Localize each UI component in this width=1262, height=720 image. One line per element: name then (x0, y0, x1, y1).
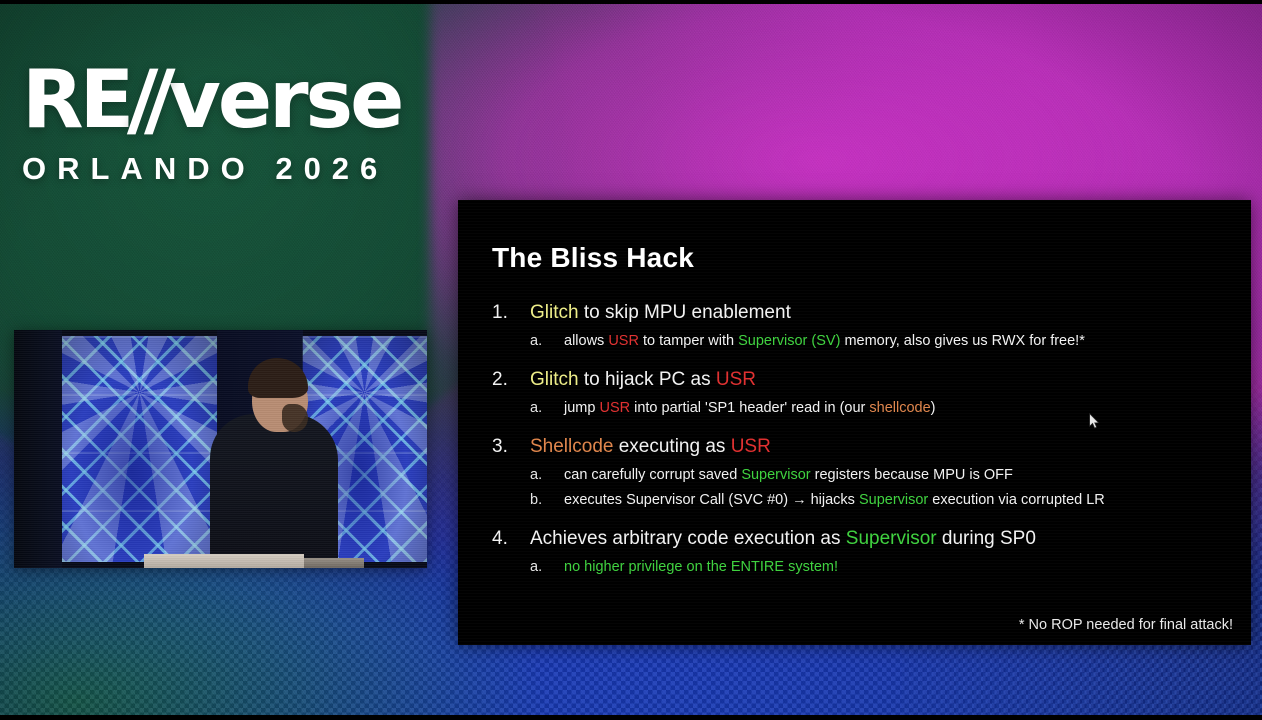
logo-slashes-icon: // (127, 62, 164, 139)
logo-text-verse: verse (169, 62, 402, 139)
slide-item-2-sub-1-text: jump USR into partial 'SP1 header' read … (564, 398, 1233, 418)
slide-item-2-sub-1: a. jump USR into partial 'SP1 header' re… (492, 398, 1233, 418)
screen: RE // verse ORLANDO 2026 The Bliss Hack … (0, 0, 1262, 720)
slide-item-1-main: 1.Glitch to skip MPU enablement (492, 300, 1233, 326)
slide-item-1-number: 1. (492, 300, 530, 326)
slide-item-2-sub-1-segment-4: ) (931, 400, 936, 416)
slide-item-3-segment-2: USR (731, 436, 771, 457)
logo-text-re: RE (22, 62, 130, 139)
slide-item-4-sub-1: a.no higher privilege on the ENTIRE syst… (492, 557, 1233, 577)
slide-item-3-number: 3. (492, 434, 530, 460)
speaker-video-feed[interactable] (14, 330, 427, 568)
slide-item-3-sub-2-segment-1: Supervisor (859, 492, 928, 508)
slide-item-3-sub-1-text: can carefully corrupt saved Supervisor r… (564, 465, 1233, 485)
slide-item-4-sub-1-letter: a. (530, 557, 564, 577)
video-grain-overlay (14, 330, 427, 568)
slide-item-2-sub-1-segment-3: shellcode (869, 400, 930, 416)
slide-item-3-sub-2-text: executes Supervisor Call (SVC #0) → hija… (564, 490, 1233, 510)
slide-item-2-sub-1-segment-2: into partial 'SP1 header' read in (our (630, 400, 869, 416)
slide-bullet-list: 1.Glitch to skip MPU enablementa.allows … (492, 300, 1233, 593)
slide-item-1-sub-1-segment-0: allows (564, 333, 608, 349)
slide-item-3-main: 3.Shellcode executing as USR (492, 434, 1233, 460)
slide-item-1-text: Glitch to skip MPU enablement (530, 300, 1233, 326)
slide-item-2-segment-2: USR (716, 369, 756, 390)
slide-item-1-sub-1: a.allows USR to tamper with Supervisor (… (492, 331, 1233, 351)
slide-item-2-sub-1-letter: a. (530, 398, 564, 418)
slide-item-3-sub-2-segment-0: executes Supervisor Call (SVC #0) → hija… (564, 492, 859, 508)
slide-item-2: 2.Glitch to hijack PC as USRa. jump USR … (492, 367, 1233, 418)
slide-item-3-segment-1: executing as (613, 436, 730, 457)
letterbox-bottom-bar (0, 715, 1262, 720)
slide-title: The Bliss Hack (492, 242, 694, 274)
slide-item-4-main: 4.Achieves arbitrary code execution as S… (492, 526, 1233, 552)
logo-subtitle: ORLANDO 2026 (22, 151, 452, 187)
slide-item-3-sub-1-segment-2: registers because MPU is OFF (811, 467, 1013, 483)
slide-item-4-text: Achieves arbitrary code execution as Sup… (530, 526, 1233, 552)
slide-item-4-segment-1: Supervisor (846, 528, 937, 549)
slide-item-1-segment-1: to skip MPU enablement (579, 302, 791, 323)
slide-item-4-sub-1-segment-0: no higher privilege on the ENTIRE system… (564, 559, 838, 575)
slide-item-2-sub-1-segment-1: USR (599, 400, 630, 416)
slide-item-4-segment-0: Achieves arbitrary code execution as (530, 528, 846, 549)
conference-logo: RE // verse ORLANDO 2026 (22, 62, 452, 187)
slide-item-1-sub-1-text: allows USR to tamper with Supervisor (SV… (564, 331, 1233, 351)
slide-item-1-sub-1-segment-6: memory, also gives us RWX for free!* (840, 333, 1084, 349)
slide-item-2-text: Glitch to hijack PC as USR (530, 367, 1233, 393)
slide-item-1-sub-1-segment-3: Supervisor (738, 333, 807, 349)
slide-item-4-sub-1-text: no higher privilege on the ENTIRE system… (564, 557, 1233, 577)
slide-item-1-sub-1-segment-1: USR (608, 333, 639, 349)
slide-item-1-segment-0: Glitch (530, 302, 579, 323)
slide-item-4: 4.Achieves arbitrary code execution as S… (492, 526, 1233, 577)
slide-item-3-text: Shellcode executing as USR (530, 434, 1233, 460)
slide-item-3: 3.Shellcode executing as USRa.can carefu… (492, 434, 1233, 510)
slide-item-2-segment-1: to hijack PC as (579, 369, 716, 390)
slide-item-1: 1.Glitch to skip MPU enablementa.allows … (492, 300, 1233, 351)
slide-item-4-segment-2: during SP0 (937, 528, 1036, 549)
slide-item-2-number: 2. (492, 367, 530, 393)
slide-item-2-main: 2.Glitch to hijack PC as USR (492, 367, 1233, 393)
slide-item-1-sub-1-letter: a. (530, 331, 564, 351)
slide-item-3-sub-1-segment-0: can carefully corrupt saved (564, 467, 741, 483)
slide-item-3-sub-2-letter: b. (530, 490, 564, 510)
slide-item-1-sub-1-segment-2: to tamper with (639, 333, 738, 349)
slide-item-3-sub-1-segment-1: Supervisor (741, 467, 810, 483)
slide-item-3-sub-1: a.can carefully corrupt saved Supervisor… (492, 465, 1233, 485)
slide-item-3-segment-0: Shellcode (530, 436, 613, 457)
letterbox-top-bar (0, 0, 1262, 4)
slide-item-2-sub-1-segment-0: jump (564, 400, 599, 416)
slide-item-3-sub-2-segment-2: execution via corrupted LR (928, 492, 1105, 508)
slide-footnote: * No ROP needed for final attack! (1019, 617, 1233, 633)
presentation-slide[interactable]: The Bliss Hack 1.Glitch to skip MPU enab… (458, 200, 1251, 645)
slide-item-3-sub-2: b.executes Supervisor Call (SVC #0) → hi… (492, 490, 1233, 510)
logo-wordmark: RE // verse (22, 62, 452, 139)
slide-item-4-number: 4. (492, 526, 530, 552)
slide-item-1-sub-1-segment-5: (SV) (811, 333, 840, 349)
slide-item-3-sub-1-letter: a. (530, 465, 564, 485)
slide-item-2-segment-0: Glitch (530, 369, 579, 390)
